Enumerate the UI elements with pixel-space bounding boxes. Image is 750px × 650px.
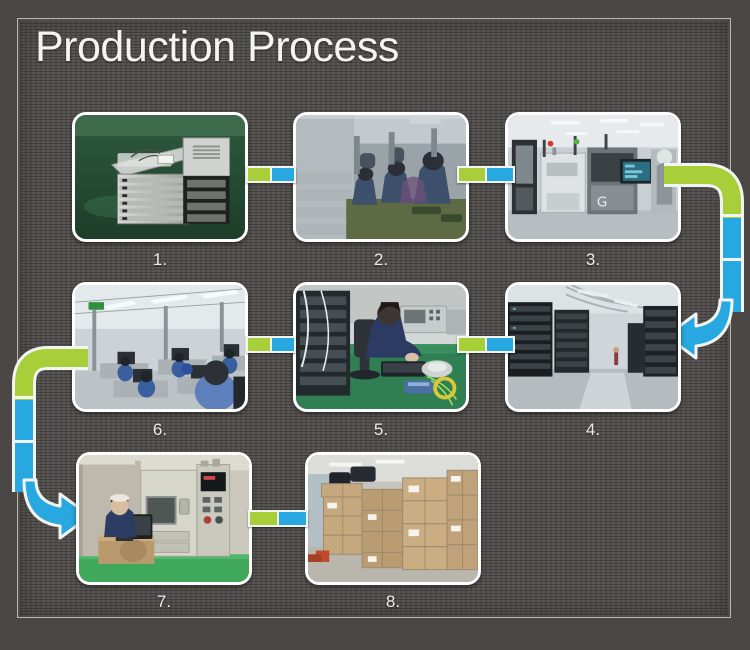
connector-segment-green <box>459 168 485 181</box>
svg-text:G: G <box>597 196 607 211</box>
connector-segment-blue <box>277 512 306 525</box>
connector-2-to-3 <box>457 166 515 183</box>
step-image-8 <box>308 455 478 582</box>
step-card-6[interactable] <box>72 282 248 412</box>
connector-4-to-5 <box>457 336 515 353</box>
step-image-7 <box>79 455 249 582</box>
step-card-8[interactable] <box>305 452 481 585</box>
step-number-7: 7. <box>74 592 254 612</box>
step-image-1 <box>75 115 245 239</box>
connector-segment-blue <box>485 338 513 351</box>
step-number-8: 8. <box>303 592 483 612</box>
step-number-3: 3. <box>503 250 683 270</box>
connector-segment-green <box>250 512 277 525</box>
step-image-5 <box>296 285 466 409</box>
step-image-3: G <box>508 115 678 239</box>
step-number-5: 5. <box>291 420 471 440</box>
step-card-3[interactable]: G <box>505 112 681 242</box>
step-number-4: 4. <box>503 420 683 440</box>
connector-5-to-6 <box>246 336 296 353</box>
step-card-4[interactable] <box>505 282 681 412</box>
connector-segment-blue <box>270 168 294 181</box>
step-card-7[interactable] <box>76 452 252 585</box>
step-image-4 <box>508 285 678 409</box>
connector-1-to-2 <box>246 166 296 183</box>
connector-segment-blue <box>270 338 294 351</box>
step-image-6 <box>75 285 245 409</box>
page-title: Production Process <box>35 24 399 71</box>
step-card-2[interactable] <box>293 112 469 242</box>
connector-segment-green <box>459 338 485 351</box>
connector-segment-green <box>248 338 270 351</box>
connector-segment-green <box>248 168 270 181</box>
step-number-2: 2. <box>291 250 471 270</box>
step-card-5[interactable] <box>293 282 469 412</box>
step-number-6: 6. <box>70 420 250 440</box>
production-process-infographic: Production Process <box>0 0 750 650</box>
step-card-1[interactable] <box>72 112 248 242</box>
connector-segment-blue <box>485 168 513 181</box>
connector-7-to-8 <box>248 510 308 527</box>
step-image-2 <box>296 115 466 239</box>
step-number-1: 1. <box>70 250 250 270</box>
